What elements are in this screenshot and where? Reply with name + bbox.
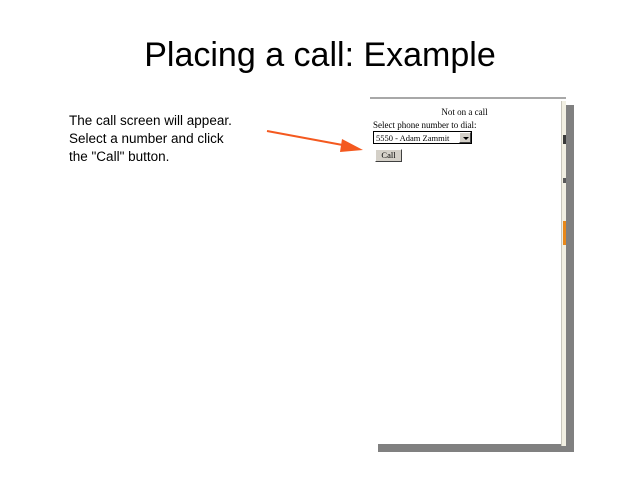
chevron-down-icon	[463, 137, 469, 140]
call-button[interactable]: Call	[375, 149, 402, 162]
embedded-app-screenshot: Not on a call Select phone number to dia…	[370, 97, 574, 452]
page-title: Placing a call: Example	[0, 36, 640, 75]
phone-number-selected-value: 5550 - Adam Zammit	[376, 133, 449, 143]
panel-shadow-bottom	[378, 444, 574, 452]
scrollbar-thumb[interactable]	[563, 221, 566, 245]
phone-number-select[interactable]: 5550 - Adam Zammit	[373, 131, 472, 144]
body-text-line: the "Call" button.	[69, 148, 284, 166]
scrollbar-mark	[563, 178, 566, 183]
scrollbar-vertical[interactable]	[561, 101, 566, 446]
body-text-line: Select a number and click	[69, 130, 284, 148]
arrow-right-icon	[260, 122, 370, 160]
body-text-line: The call screen will appear.	[69, 112, 284, 130]
dial-number-label: Select phone number to dial:	[373, 120, 476, 130]
call-screen-panel: Not on a call Select phone number to dia…	[370, 97, 566, 444]
slide-canvas: Placing a call: Example The call screen …	[0, 0, 640, 480]
body-text-block: The call screen will appear. Select a nu…	[69, 112, 284, 166]
panel-shadow-right	[566, 105, 574, 452]
select-dropdown-button[interactable]	[459, 132, 471, 143]
call-status-text: Not on a call	[370, 107, 559, 117]
scrollbar-mark	[563, 135, 566, 144]
